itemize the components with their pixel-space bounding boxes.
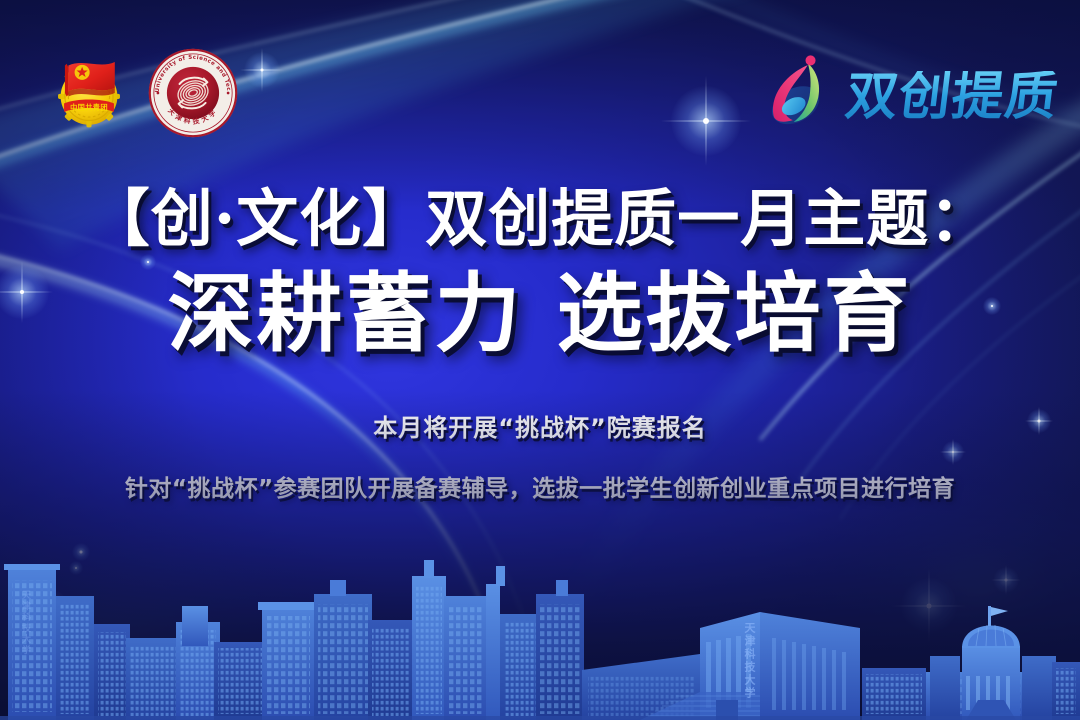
tianjin-university-of-science-and-technology-seal: Tianjin University of Science and Techno…	[148, 48, 238, 143]
campus-building-label: 天津科技大学	[744, 622, 755, 700]
page-title-line-1: 【创·文化】双创提质一月主题：	[0, 186, 1080, 253]
page-title-line-2: 深耕蓄力 选拔培育	[0, 267, 1080, 362]
svg-text:中国共青团: 中国共青团	[70, 103, 108, 112]
brand-lockup: 双创提质	[766, 52, 1064, 141]
poster-canvas: 中国共青团	[0, 0, 1080, 720]
brand-label: 双创提质	[843, 71, 1067, 123]
communist-youth-league-emblem: 中国共青团	[46, 50, 132, 141]
left-tower-label: 天津科技大学	[20, 590, 29, 656]
shuangchuang-swoosh-icon	[766, 52, 842, 141]
city-skyline-illustration: 天津科技大学 天津科技大学	[0, 550, 1080, 720]
logo-row: 中国共青团	[46, 48, 238, 143]
